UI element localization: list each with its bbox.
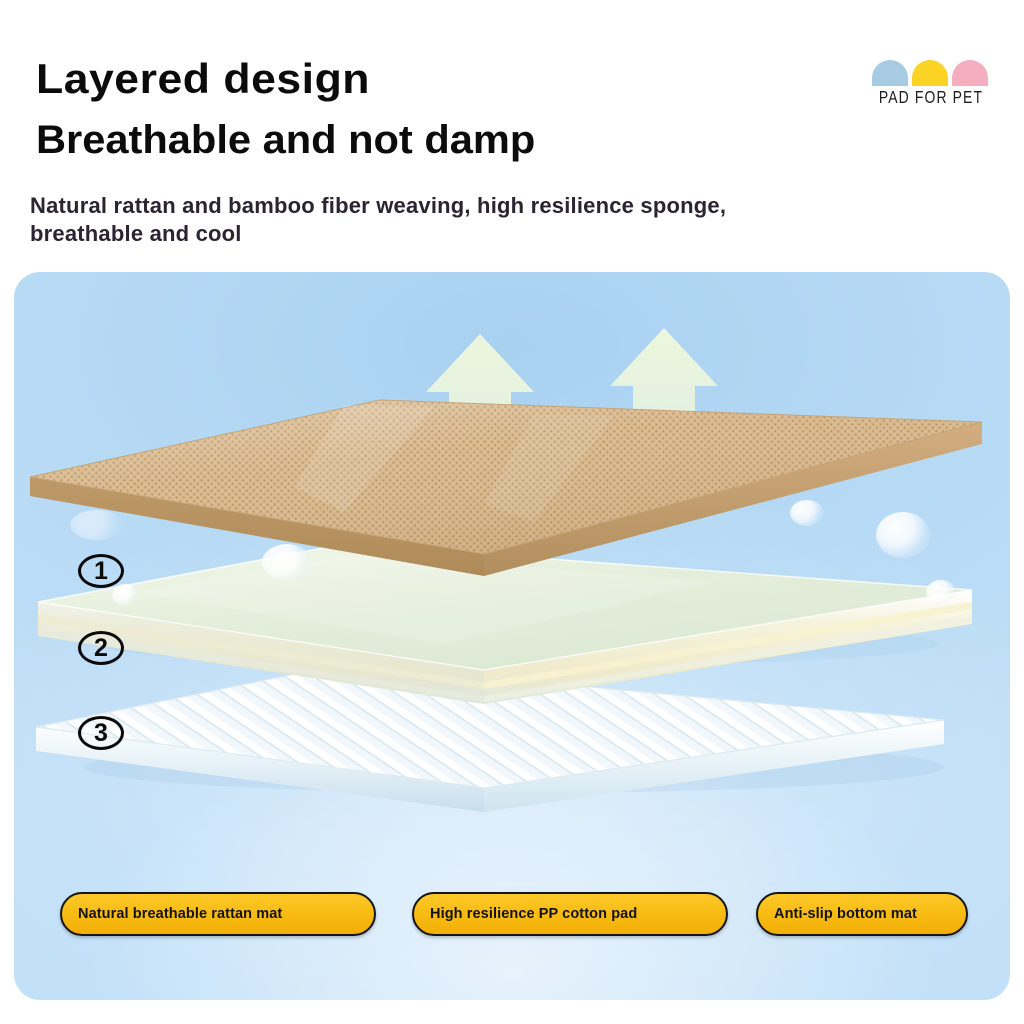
logo-arch-blue-icon (872, 60, 908, 86)
layer-badge-2-label: 2 (94, 636, 108, 661)
logo-arch-yellow-icon (912, 60, 948, 86)
page-title-primary: Layered design (36, 55, 370, 103)
brand-logo: PAD FOR PET (866, 60, 996, 110)
layer-badge-1: 1 (78, 554, 124, 588)
header: Layered design Breathable and not damp N… (0, 0, 1024, 272)
layer-badge-3: 3 (78, 716, 124, 750)
layer-badge-1-label: 1 (94, 559, 108, 584)
pill-pp-cotton-pad[interactable]: High resilience PP cotton pad (412, 892, 728, 936)
rattan-mat-layer (30, 400, 982, 576)
layer-slabs-group (14, 272, 1010, 1000)
feature-pill-row: Natural breathable rattan mat High resil… (14, 892, 1010, 962)
logo-arch-pink-icon (952, 60, 988, 86)
pill-anti-slip-mat-label: Anti-slip bottom mat (774, 905, 917, 924)
page-subtitle: Natural rattan and bamboo fiber weaving,… (30, 192, 760, 248)
layer-badge-2: 2 (78, 631, 124, 665)
logo-arches-group (872, 60, 992, 86)
layer-diagram-panel: 1 2 3 Natural breathable rattan mat High… (14, 272, 1010, 1000)
page-title-secondary: Breathable and not damp (36, 118, 535, 163)
pill-rattan-mat[interactable]: Natural breathable rattan mat (60, 892, 376, 936)
layer-badge-3-label: 3 (94, 721, 108, 746)
pill-pp-cotton-pad-label: High resilience PP cotton pad (430, 905, 637, 924)
logo-brand-text: PAD FOR PET (871, 88, 992, 108)
pill-rattan-mat-label: Natural breathable rattan mat (78, 905, 282, 924)
pill-anti-slip-mat[interactable]: Anti-slip bottom mat (756, 892, 968, 936)
